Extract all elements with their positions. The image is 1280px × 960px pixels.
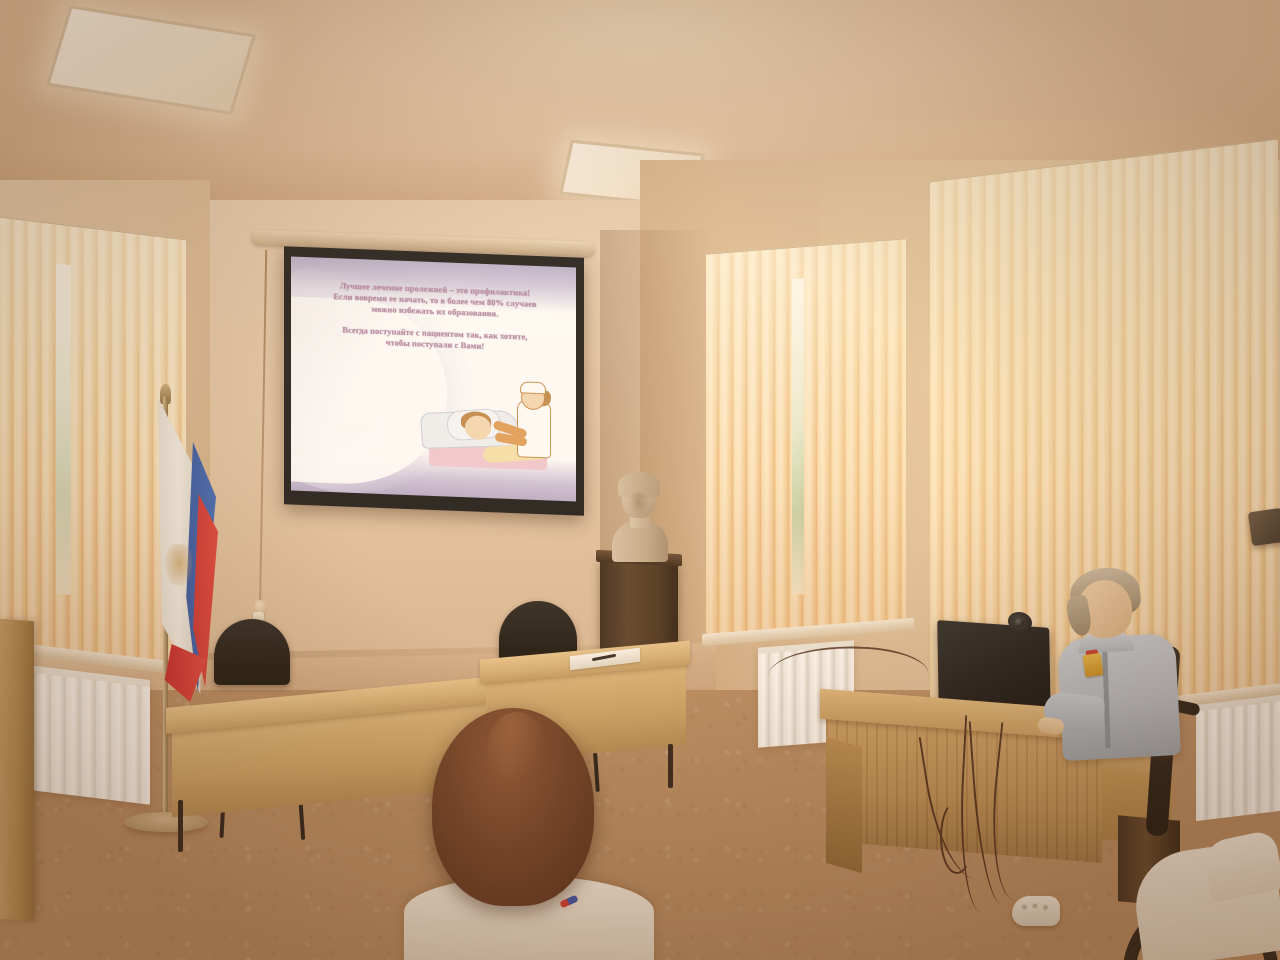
ceiling-projector <box>1248 508 1280 546</box>
slide-text-block: Лучшее лечение пролежней – это профилакт… <box>301 279 569 355</box>
computer-desk-side <box>826 737 862 873</box>
desk-left-leg-1 <box>178 800 183 852</box>
flag-emblem-icon <box>166 544 192 586</box>
russian-flag <box>158 398 210 698</box>
webcam-lens-icon <box>1014 618 1024 627</box>
nurse-cap <box>520 381 546 394</box>
window-light-glow-right-near <box>706 238 906 639</box>
bust-face-shadow <box>628 492 650 516</box>
conference-room-photo: Лучшее лечение пролежней – это профилакт… <box>0 0 1280 960</box>
foreground-attendee-hair-highlight <box>488 712 546 782</box>
patient-head <box>465 415 491 440</box>
radiator-left <box>22 664 150 805</box>
chair-left[interactable] <box>214 619 290 685</box>
name-badge <box>1083 653 1104 677</box>
window-right-near <box>706 238 906 639</box>
wooden-cabinet <box>0 619 34 921</box>
radiator-right-far <box>1196 695 1280 821</box>
cable-loop <box>940 800 974 874</box>
slide-illustration <box>421 374 571 492</box>
clog-shoe-holes <box>1020 902 1050 912</box>
desk-right-leg <box>668 744 673 788</box>
projection-screen: Лучшее лечение пролежней – это профилакт… <box>291 257 576 502</box>
